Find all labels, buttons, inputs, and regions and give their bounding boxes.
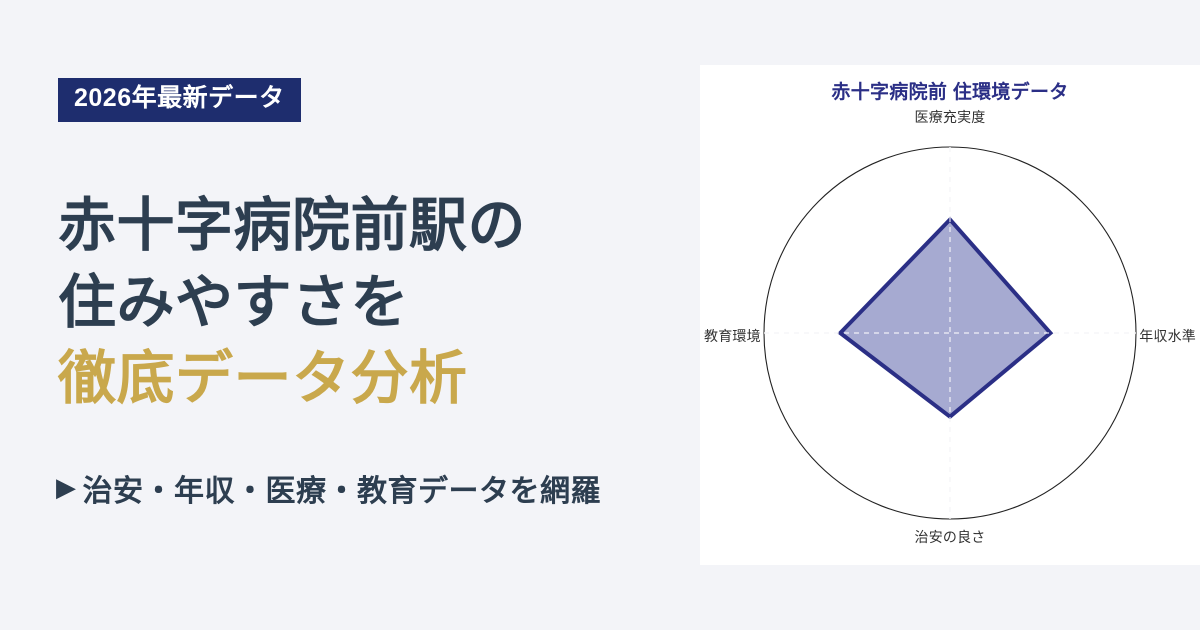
radar-axis-label-left: 教育環境 — [704, 326, 761, 346]
subtitle-row: ▶ 治安・年収・医療・教育データを網羅 — [56, 466, 601, 510]
radar-data-polygon — [840, 220, 1050, 417]
headline-block: 赤十字病院前駅の 住みやすさを 徹底データ分析 — [58, 188, 698, 418]
radar-axis-label-bottom: 治安の良さ — [700, 527, 1200, 547]
headline-line-1: 赤十字病院前駅の — [58, 188, 698, 265]
headline-line-2: 住みやすさを — [58, 265, 698, 342]
triangle-right-icon: ▶ — [56, 474, 77, 500]
chart-panel: 赤十字病院前 住環境データ 医療充実度 年収水準 治安 — [700, 65, 1200, 565]
date-badge: 2026年最新データ — [58, 78, 301, 122]
poster-canvas: 2026年最新データ 赤十字病院前駅の 住みやすさを 徹底データ分析 ▶ 治安・… — [0, 0, 1200, 630]
headline-line-3-highlight: 徹底データ分析 — [58, 341, 698, 418]
radar-axis-label-top: 医療充実度 — [700, 107, 1200, 127]
radar-chart: 医療充実度 年収水準 治安の良さ 教育環境 — [700, 65, 1200, 565]
radar-axis-label-right: 年収水準 — [1139, 326, 1196, 346]
subtitle-text: 治安・年収・医療・教育データを網羅 — [83, 466, 602, 510]
radar-chart-svg — [700, 65, 1200, 565]
left-text-column: 2026年最新データ 赤十字病院前駅の 住みやすさを 徹底データ分析 ▶ 治安・… — [0, 0, 700, 630]
